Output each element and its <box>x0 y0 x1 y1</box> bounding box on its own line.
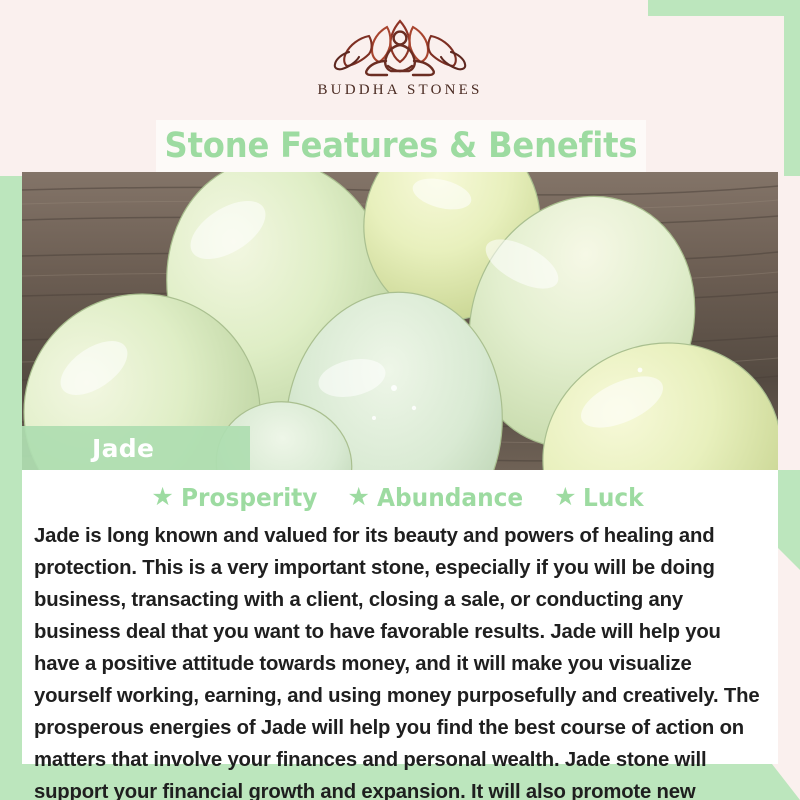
benefit-item: ★ Luck <box>554 483 649 512</box>
accent-bar-right-lower <box>778 470 800 570</box>
star-icon: ★ <box>151 485 173 510</box>
content-panel: ★ Prosperity ★ Abundance ★ Luck Jade is … <box>22 470 778 764</box>
page-title: Stone Features & Benefits <box>165 126 638 166</box>
benefit-item: ★ Prosperity <box>151 483 327 512</box>
star-icon: ★ <box>347 485 369 510</box>
title-banner: Stone Features & Benefits <box>156 120 646 172</box>
benefits-list: ★ Prosperity ★ Abundance ★ Luck <box>22 470 778 516</box>
stone-name-band: Jade <box>22 426 250 470</box>
stone-info-card: BUDDHA STONES Stone Features & Benefits <box>0 0 800 800</box>
star-icon: ★ <box>554 485 576 510</box>
benefit-label: Prosperity <box>181 483 317 512</box>
brand-header: BUDDHA STONES <box>0 0 800 118</box>
benefit-label: Abundance <box>377 483 523 512</box>
stone-name-label: Jade <box>92 434 154 463</box>
lotus-meditation-figure-icon <box>325 14 475 80</box>
benefit-item: ★ Abundance <box>347 483 534 512</box>
benefit-label: Luck <box>583 483 644 512</box>
brand-wordmark: BUDDHA STONES <box>317 82 482 99</box>
stone-description: Jade is long known and valued for its be… <box>34 520 766 800</box>
accent-bar-left <box>0 176 22 800</box>
